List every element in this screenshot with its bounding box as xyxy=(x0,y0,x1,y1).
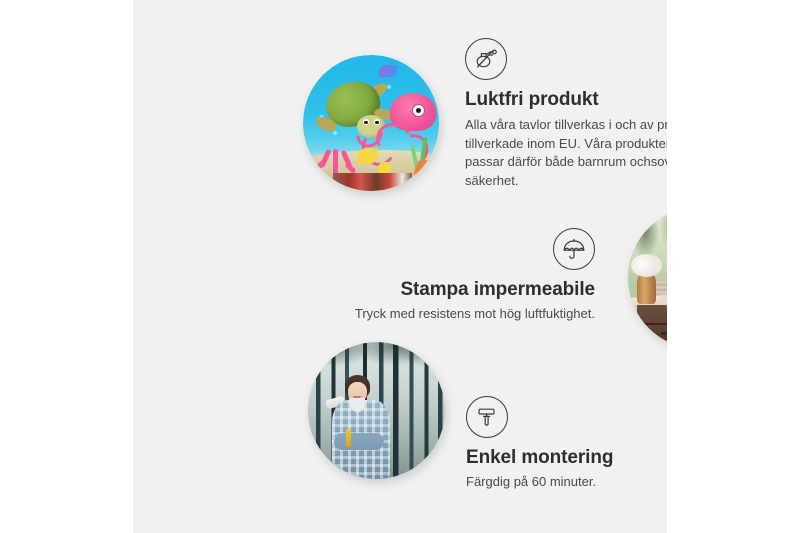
wood-cabinet xyxy=(637,305,667,349)
underwater-cartoon-photo xyxy=(303,55,439,191)
forest-scene xyxy=(308,342,445,479)
underwater-scene xyxy=(303,55,439,191)
painter-woman-forest-photo xyxy=(308,342,445,479)
flowers xyxy=(631,254,662,277)
feature-title: Luktfri produkt xyxy=(465,89,667,111)
feature-block-odourless-product: Luktfri produkt Alla våra tavlor tillver… xyxy=(465,38,667,191)
feature-block-easy-installation: Enkel montering Färgdig på 60 minuter. xyxy=(466,396,667,489)
coral xyxy=(315,134,356,175)
screenshot-root: Luktfri produkt Alla våra tavlor tillver… xyxy=(0,0,800,533)
yellow-tool xyxy=(346,429,350,447)
no-fragrance-icon xyxy=(465,38,507,80)
paint-roller-icon xyxy=(466,396,508,438)
feature-title: Enkel montering xyxy=(466,447,667,469)
bubble-icon xyxy=(387,85,391,89)
umbrella-icon xyxy=(553,228,595,270)
purple-fish-icon xyxy=(379,65,397,77)
room-strip xyxy=(333,173,412,191)
bathroom-scene xyxy=(628,207,667,349)
icon-row xyxy=(333,228,595,270)
bathroom-vanity-photo xyxy=(628,207,667,349)
yellow-fish-icon xyxy=(357,148,377,164)
feature-body: Tryck med resistens mot hög luftfuktighe… xyxy=(333,306,595,321)
feature-title: Stampa impermeabile xyxy=(333,279,595,301)
folded-arms xyxy=(334,433,384,450)
features-panel: Luktfri produkt Alla våra tavlor tillver… xyxy=(133,0,667,533)
woman-figure xyxy=(330,375,393,479)
icon-row xyxy=(466,396,667,438)
icon-row xyxy=(465,38,667,80)
vase xyxy=(637,272,657,303)
drawer-handle xyxy=(661,332,667,335)
feature-block-waterproof-print: Stampa impermeabile Tryck med resistens … xyxy=(333,228,595,321)
feature-body: Alla våra tavlor tillverkas i och av pro… xyxy=(465,116,667,191)
feature-body: Färgdig på 60 minuter. xyxy=(466,474,667,489)
